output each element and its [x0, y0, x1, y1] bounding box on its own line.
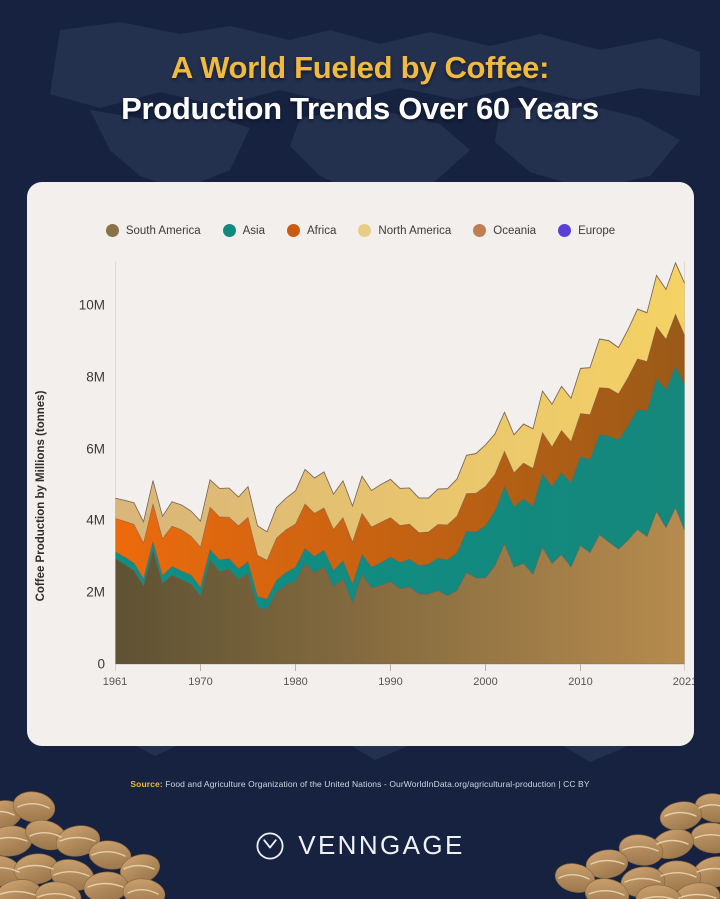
source-credit: Source: Food and Agriculture Organizatio…: [0, 779, 720, 789]
source-text: Food and Agriculture Organization of the…: [163, 779, 590, 789]
chart-legend: South AmericaAsiaAfricaNorth AmericaOcea…: [27, 224, 694, 237]
legend-item-africa[interactable]: Africa: [287, 224, 336, 237]
legend-item-asia[interactable]: Asia: [223, 224, 265, 237]
y-axis-tick-label: 4M: [57, 513, 105, 528]
x-axis-tick-label: 1961: [103, 676, 127, 688]
legend-item-label: Oceania: [493, 225, 536, 237]
x-axis-tick-label: 2021: [673, 676, 694, 688]
legend-item-europe[interactable]: Europe: [558, 224, 615, 237]
y-axis-ticks: 02M4M6M8M10M: [57, 252, 105, 746]
legend-swatch-icon: [358, 224, 371, 237]
legend-item-oceania[interactable]: Oceania: [473, 224, 536, 237]
legend-item-label: North America: [378, 225, 451, 237]
stacked-area-chart: [115, 262, 685, 702]
x-axis-tick-label: 1970: [188, 676, 212, 688]
legend-item-label: Europe: [578, 225, 615, 237]
venngage-logo[interactable]: VENNGAGE: [0, 830, 720, 861]
legend-item-label: Africa: [307, 225, 336, 237]
legend-item-north-america[interactable]: North America: [358, 224, 451, 237]
x-axis-tick-label: 2000: [473, 676, 497, 688]
y-axis-label: Coffee Production by Millions (tonnes): [35, 391, 47, 602]
legend-swatch-icon: [287, 224, 300, 237]
y-axis-tick-label: 0: [57, 657, 105, 672]
page-title-line1: A World Fueled by Coffee:: [0, 48, 720, 88]
legend-swatch-icon: [558, 224, 571, 237]
legend-item-label: South America: [126, 225, 201, 237]
y-axis-tick-label: 2M: [57, 585, 105, 600]
infographic-page: A World Fueled by Coffee: Production Tre…: [0, 0, 720, 899]
page-header: A World Fueled by Coffee: Production Tre…: [0, 48, 720, 130]
venngage-clock-icon: [255, 831, 285, 861]
legend-item-south-america[interactable]: South America: [106, 224, 201, 237]
chart-plot-area: Coffee Production by Millions (tonnes) 0…: [27, 252, 694, 746]
y-axis-tick-label: 8M: [57, 369, 105, 384]
page-title-line2: Production Trends Over 60 Years: [0, 88, 720, 130]
venngage-logo-text: VENNGAGE: [298, 830, 465, 861]
y-axis-tick-label: 6M: [57, 441, 105, 456]
chart-card: South AmericaAsiaAfricaNorth AmericaOcea…: [27, 182, 694, 746]
y-axis-tick-label: 10M: [57, 298, 105, 313]
legend-swatch-icon: [223, 224, 236, 237]
x-axis-tick-label: 1990: [378, 676, 402, 688]
legend-swatch-icon: [473, 224, 486, 237]
x-axis-tick-label: 1980: [283, 676, 307, 688]
x-axis-tick-label: 2010: [568, 676, 592, 688]
source-label: Source:: [130, 779, 162, 789]
legend-swatch-icon: [106, 224, 119, 237]
legend-item-label: Asia: [243, 225, 265, 237]
